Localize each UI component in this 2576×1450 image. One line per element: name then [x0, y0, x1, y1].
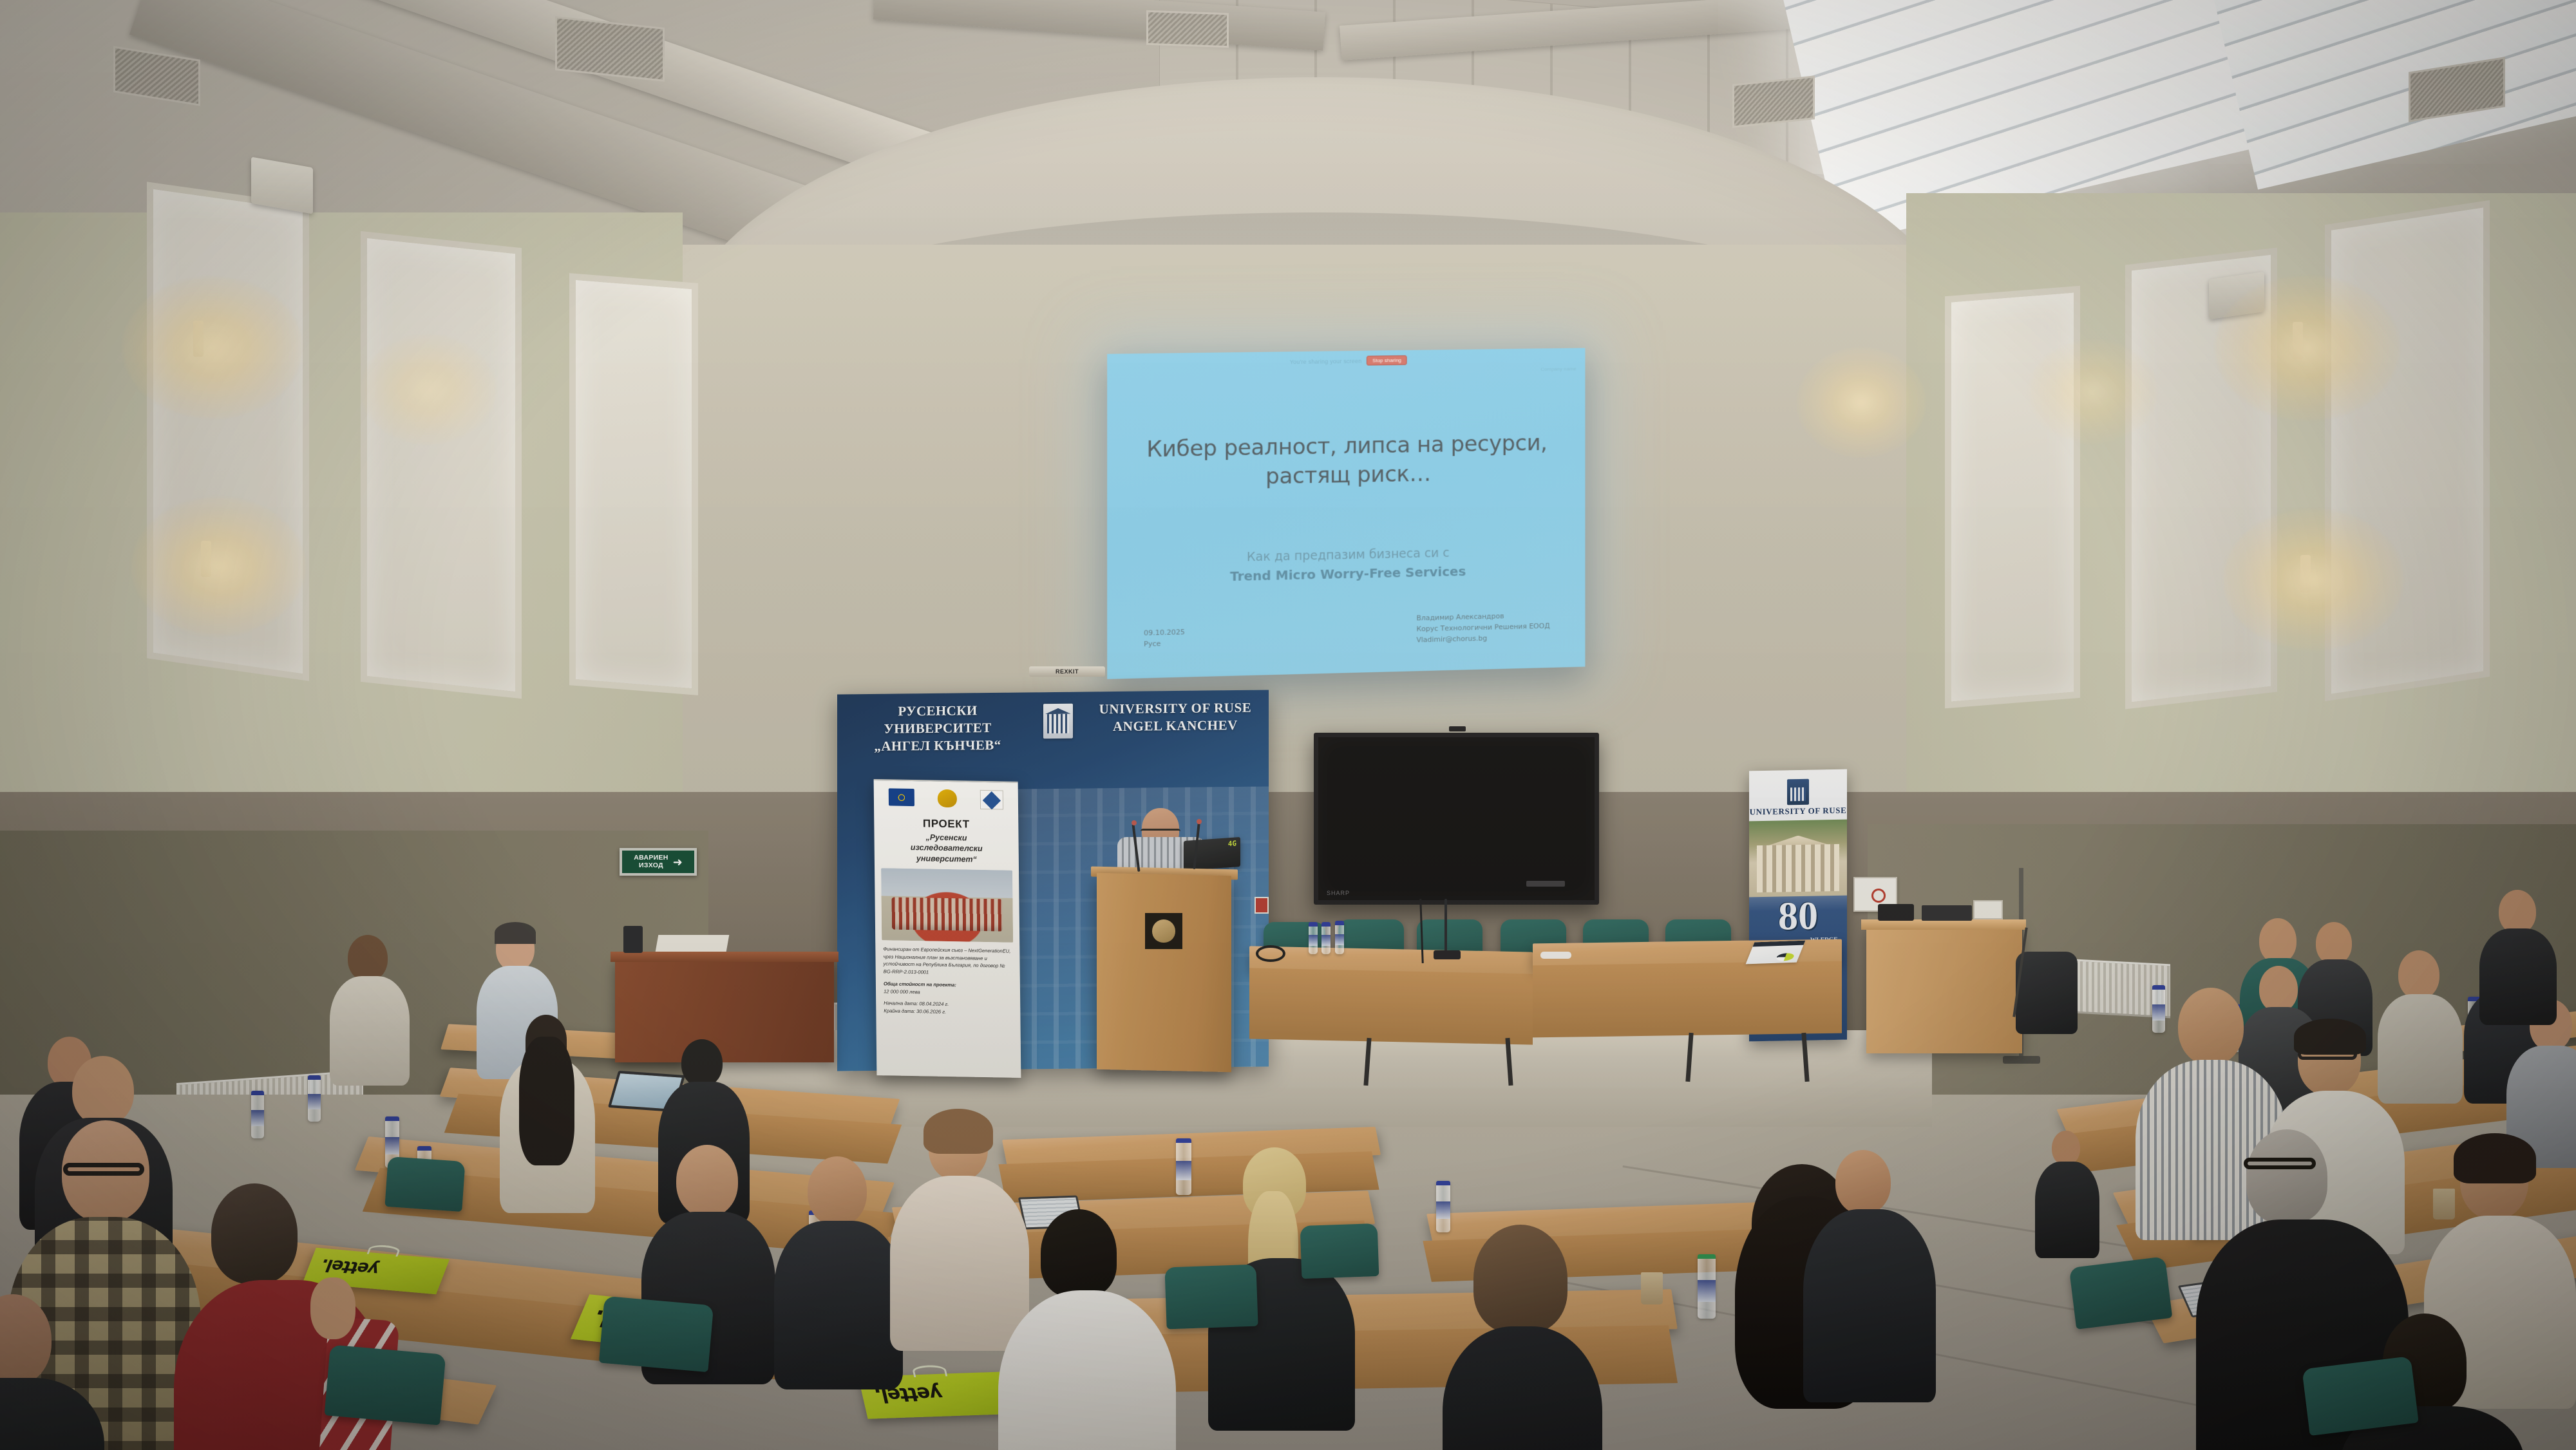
audience-chair-4[interactable] [1300, 1223, 1379, 1279]
projection-screen: You're sharing your screen Stop sharing … [1107, 348, 1585, 679]
desk-phone[interactable] [1878, 904, 1914, 921]
slide-date: 09.10.2025 [1144, 627, 1185, 639]
screen-share-bar: You're sharing your screen Stop sharing [1107, 353, 1585, 369]
water-bottle-7[interactable] [1176, 1138, 1191, 1195]
wall-panel-left-3 [569, 273, 698, 695]
water-bottle-head-1 [1309, 922, 1318, 954]
bottle-cap [1309, 922, 1318, 927]
attendee-hair [923, 1109, 993, 1154]
tv-pen-tray [1526, 881, 1565, 887]
sconce-glow-center-left [1797, 348, 1926, 457]
audience-chair-3[interactable] [1164, 1265, 1258, 1330]
anniversary-university-label: UNIVERSITY OF RUSE [1749, 805, 1847, 818]
attendee-torso [774, 1221, 903, 1389]
screen-mount-label: REXKIT [1029, 666, 1105, 677]
anniversary-number: 80 [1749, 897, 1847, 937]
eyeglasses-icon [2244, 1158, 2316, 1169]
audience-chair-7[interactable] [2069, 1256, 2173, 1330]
av-cabinet-top [1861, 919, 2026, 930]
wall-panel-left-2 [361, 231, 522, 699]
stop-sharing-button[interactable]: Stop sharing [1367, 355, 1407, 366]
head-table-right-apron [1533, 961, 1842, 1038]
sconce-glow-left-lower [131, 497, 305, 636]
tv-camera-icon [1449, 726, 1466, 731]
rollup-building-photo [881, 868, 1013, 943]
slide-date-location: 09.10.2025 Русе [1144, 627, 1185, 650]
rollup-end-date: Крайна дата: 30.06.2026 г. [876, 1007, 1020, 1017]
eyeglasses-icon [63, 1163, 144, 1176]
attendee-torso [2035, 1162, 2099, 1258]
water-bottle-10[interactable] [1436, 1181, 1450, 1232]
attendee-head [1835, 1150, 1891, 1214]
attendee-head [2178, 988, 2244, 1065]
attendee-torso [1803, 1209, 1936, 1402]
attendee-head [808, 1156, 867, 1226]
attendee-head [348, 935, 388, 981]
water-bottle-5[interactable] [308, 1075, 321, 1122]
coffee-cup-1[interactable] [1641, 1272, 1663, 1304]
attendee-hand [310, 1277, 355, 1339]
water-bottle-head-3 [1335, 921, 1344, 954]
bulgaria-ministry-logo-icon [980, 790, 1003, 810]
emergency-exit-sign: АВАРИЕНИЗХОД ➜ [620, 848, 697, 876]
attendee-head [2398, 950, 2439, 999]
attendee-hair-long [519, 1037, 574, 1165]
attendee-head [2052, 1131, 2080, 1165]
coffee-cup-3[interactable] [2433, 1189, 2455, 1219]
banner-university-en: UNIVERSITY OF RUSE ANGEL KANCHEV [1088, 699, 1262, 736]
presenter-laptop [1184, 837, 1240, 871]
no-smoking-icon [1871, 889, 1886, 903]
attendee-head [2499, 890, 2536, 934]
arrow-right-icon: ➜ [673, 856, 683, 868]
slide-city: Русе [1144, 638, 1185, 650]
banner-stand-base [2003, 1056, 2040, 1064]
banner-university-bg: РУСЕНСКИ УНИВЕРСИТЕТ „АНГЕЛ КЪНЧЕВ“ [854, 702, 1021, 755]
hvac-vent-right [1732, 75, 1815, 127]
yettel-wordmark: yettel. [318, 1255, 383, 1279]
cabinet-papers [656, 935, 730, 952]
bag-handle [911, 1365, 947, 1378]
head-table-flyer[interactable] [1746, 941, 1806, 965]
tv-brand-label: SHARP [1327, 890, 1350, 896]
attendee-head [72, 1056, 134, 1125]
university-crest-icon [1043, 704, 1073, 739]
eyeglasses-icon [1141, 829, 1180, 836]
bottle-cap [1335, 921, 1344, 925]
audience-chair-5[interactable] [384, 1156, 465, 1212]
rollup-logo-row [874, 780, 1019, 815]
attendee-hoodie [890, 1176, 1029, 1351]
lectern-university-emblem [1145, 913, 1182, 949]
ruse-university-logo-icon [934, 789, 960, 812]
hvac-vent-stage [1146, 10, 1229, 48]
attendee-torso [2479, 928, 2557, 1025]
cable-coil [1256, 945, 1285, 962]
attendee-head [211, 1183, 298, 1284]
slide-title: Кибер реалност, липса на ресурси, растящ… [1107, 428, 1585, 494]
table-microphone-base [1434, 950, 1461, 959]
sconce-glow-right-lower [2223, 509, 2403, 650]
water-bottle-8[interactable] [1698, 1254, 1716, 1319]
slide-corner-note: Company name [1540, 366, 1576, 372]
av-backpack [2016, 952, 2078, 1034]
water-bottle-4[interactable] [251, 1091, 264, 1138]
water-bottle-head-2 [1321, 922, 1331, 954]
share-notice-text: You're sharing your screen [1290, 357, 1362, 364]
hvac-vent-center [555, 16, 665, 82]
interactive-display [1314, 733, 1599, 905]
audience-chair-6[interactable] [2302, 1356, 2418, 1436]
attendee-hair [2294, 1019, 2366, 1055]
slide-surface: You're sharing your screen Stop sharing … [1107, 348, 1585, 679]
rollup-funding-text: Финансиран от Европейския съюз – NextGen… [875, 940, 1020, 978]
microphone-capsule-right [1197, 819, 1202, 824]
sconce-glow-left-upper [122, 277, 303, 419]
anniversary-building-photo [1749, 820, 1847, 898]
pen-holder [623, 926, 643, 953]
sconce-glow-right-mid [2029, 340, 2157, 443]
power-outlet-panel[interactable] [1973, 900, 2003, 919]
attendee-hair [495, 922, 536, 944]
table-microphone [1444, 899, 1447, 953]
av-mixer[interactable] [1922, 905, 1972, 921]
audience-chair-1[interactable] [325, 1344, 446, 1425]
sconce-glow-right-upper [2215, 276, 2400, 420]
audience-chair-2[interactable] [599, 1296, 714, 1372]
rollup-project-heading: ПРОЕКТ [874, 816, 1018, 832]
anniversary-crest-icon [1787, 779, 1809, 805]
exit-sign-text: АВАРИЕНИЗХОД [634, 854, 668, 869]
microphone-capsule-left [1132, 820, 1137, 825]
attendee-head [2246, 1129, 2327, 1223]
av-equipment-cabinet [1866, 926, 2022, 1053]
attendee-head [1041, 1209, 1117, 1297]
bottle-cap [1321, 922, 1331, 927]
lecture-hall-photo: АВАРИЕНИЗХОД ➜ You're sharing your scree… [0, 0, 2576, 1450]
project-rollup-banner: ПРОЕКТ „Русенски изследователски универс… [874, 779, 1021, 1078]
slide-presenter-block: Владимир Александров Корус Технологични … [1416, 610, 1549, 646]
lectern [1097, 873, 1231, 1072]
attendee-head [2259, 966, 2298, 1012]
sconce-glow-left-mid [361, 335, 496, 444]
attendee-torso [2378, 994, 2463, 1104]
remote-control[interactable] [1540, 952, 1571, 959]
rollup-project-name: „Русенски изследователски университет“ [874, 831, 1018, 865]
attendee-head [1473, 1225, 1567, 1333]
eu-flag-icon [889, 788, 914, 806]
head-table-left-apron [1249, 968, 1533, 1044]
attendee-head [676, 1145, 738, 1217]
fire-alarm-call-point[interactable] [1255, 897, 1269, 914]
wood-cabinet-left [615, 959, 834, 1062]
attendee-head [681, 1039, 723, 1087]
attendee-hair [2454, 1133, 2536, 1183]
attendee-head [2259, 918, 2297, 963]
attendee-head [2316, 922, 2352, 965]
attendee-torso [330, 976, 410, 1086]
wood-cabinet-left-top [611, 952, 838, 962]
water-bottle-11[interactable] [2152, 985, 2165, 1033]
